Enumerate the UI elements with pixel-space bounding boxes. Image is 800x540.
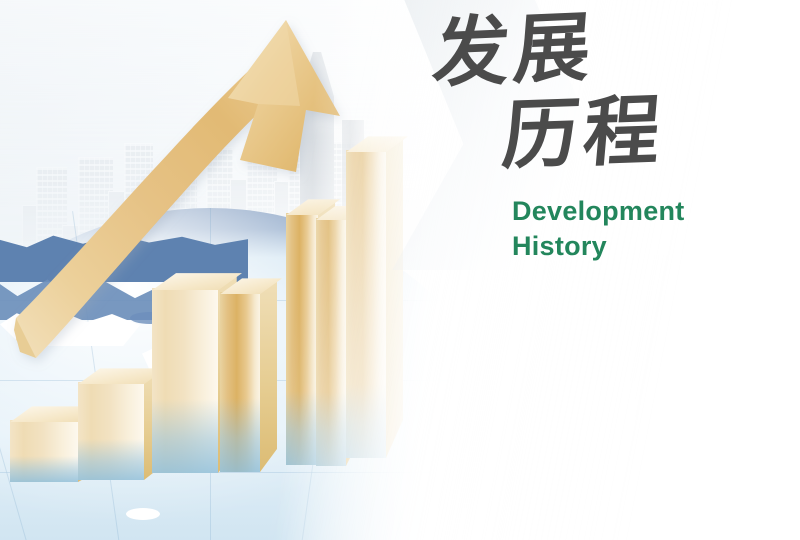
title-cjk-line1: 发展 (430, 3, 771, 90)
development-history-banner: 发展 历程 Development History (0, 0, 800, 540)
title-block: 发展 历程 Development History (430, 18, 770, 263)
title-english-line1: Development (512, 194, 770, 229)
title-cjk-line2: 历程 (500, 91, 771, 172)
title-english-line2: History (512, 229, 770, 264)
title-english: Development History (512, 194, 770, 263)
